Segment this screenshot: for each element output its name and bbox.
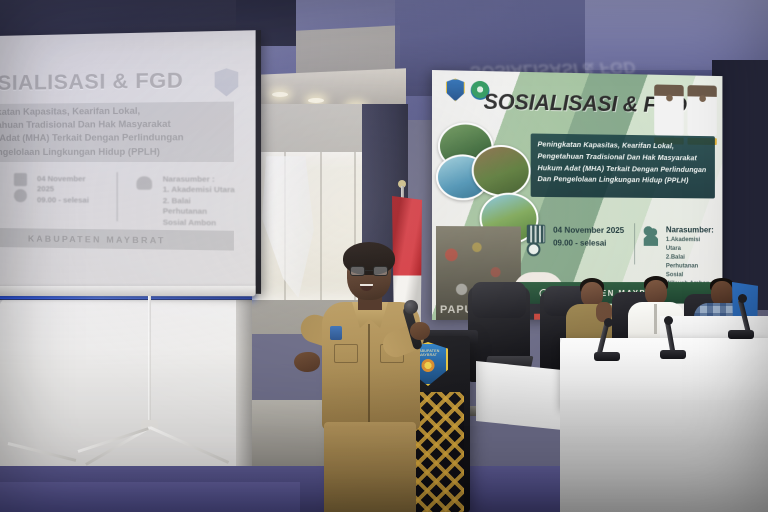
slide-footer-bar: KABUPATEN MAYBRAT	[0, 228, 234, 251]
slide-narasumber-item-2: 2. Balai Perhutanan	[163, 196, 238, 218]
carpet-floor-left	[0, 482, 300, 512]
slide-title: SOSIALISASI & FGD	[0, 68, 223, 96]
banner-narasumber-item-1: 1.Akademisi Utara	[666, 235, 715, 253]
slide-narasumber-label: Narasumber :	[163, 174, 238, 185]
slide-calendar-icon	[14, 173, 27, 186]
banner-info-bar: 04 November 2025 09.00 - selesai Narasum…	[527, 219, 715, 271]
slide-narasumber-item-3: Sosial Ambon	[163, 217, 238, 229]
downlight-icon	[272, 92, 288, 97]
portrait-official-1	[654, 84, 683, 135]
desk-microphone-base	[660, 350, 686, 359]
marble-wall-edge	[236, 300, 252, 490]
tripod-post	[148, 296, 151, 426]
marble-wall	[0, 300, 250, 490]
banner-divider	[634, 223, 635, 264]
projection-screen: SOSIALISASI & FGD Peningkatan Kapasitas,…	[0, 30, 261, 294]
speaker-shoulder-badge	[330, 326, 342, 340]
slide-subtitle-line-2: Pengetahuan Tradisional Dan Hak Masyarak…	[0, 117, 232, 132]
banner-subtitle-line-4: Dan Pengelolaan Lingkungan Hidup (PPLH)	[537, 174, 708, 187]
portrait-official-2	[687, 85, 716, 136]
slide-time: 09.00 - selesai	[37, 195, 104, 206]
led-strip	[0, 296, 252, 299]
speaker-skirt	[324, 422, 416, 512]
slide-date: 04 November 2025	[37, 174, 104, 195]
clock-icon	[527, 242, 541, 256]
speaker-left-hand	[294, 352, 320, 372]
slide-footer-text: KABUPATEN MAYBRAT	[28, 233, 166, 245]
speaker-placket	[368, 324, 370, 422]
slide-divider	[117, 172, 118, 221]
desk-microphone-head	[664, 316, 673, 325]
banner-portraits	[654, 84, 717, 136]
slide-subtitle-line-4: Dan Pengelolaan Lingkungan Hidup (PPLH)	[0, 145, 232, 159]
eyeglasses-icon	[350, 266, 388, 276]
banner-subtitle-box: Peningkatan Kapasitas, Kearifan Lokal, P…	[531, 133, 715, 198]
regency-crest-icon	[446, 78, 465, 101]
people-icon	[644, 226, 658, 246]
slide-people-icon	[137, 176, 153, 189]
speaker-right-hand	[410, 322, 430, 340]
calendar-icon	[527, 225, 546, 244]
projection-screen-roller	[0, 286, 256, 296]
slide-clock-icon	[14, 189, 27, 202]
desk-microphone-base	[728, 330, 754, 339]
downlight-icon	[308, 98, 324, 103]
slide-info-row: 04 November 2025 09.00 - selesai Narasum…	[14, 170, 237, 225]
desk-microphone-base	[594, 352, 620, 361]
slide-narasumber-item-1: 1. Akademisi Utara	[163, 185, 238, 196]
photo-scene: SOSIALISASI & FGD SOSIALISASI & FGD	[0, 0, 768, 512]
banner-date: 04 November 2025	[553, 224, 624, 237]
handheld-microphone-head	[404, 300, 418, 314]
office-chair-headrest	[472, 282, 526, 318]
banner-time: 09.00 - selesai	[553, 237, 624, 250]
banner-narasumber-label: Narasumber:	[666, 224, 715, 235]
slide-subtitle-line-3: Hukum Adat (MHA) Terkait Dengan Perlindu…	[0, 131, 232, 146]
photo-oval-village	[472, 145, 531, 197]
table-surface	[560, 338, 768, 408]
shirt-placket	[654, 304, 657, 334]
projection-surface: SOSIALISASI & FGD Peningkatan Kapasitas,…	[0, 30, 256, 294]
desk-microphone-head	[604, 318, 613, 327]
speaker-at-podium	[300, 240, 450, 512]
desk-microphone-head	[738, 294, 747, 303]
speaker-pocket-left	[334, 344, 358, 363]
table-left-wing	[476, 361, 572, 431]
slide-subtitle: Peningkatan Kapasitas, Kearifan Lokal, P…	[0, 104, 232, 159]
table-front-panel	[560, 400, 768, 512]
